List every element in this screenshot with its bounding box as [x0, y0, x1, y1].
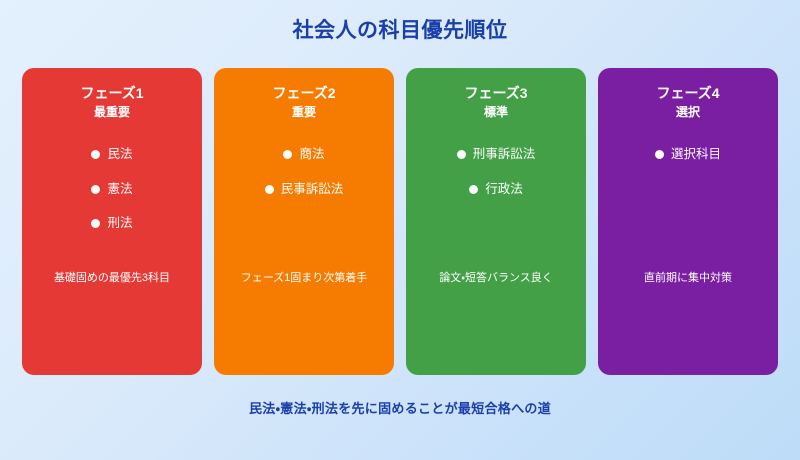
- bullet-icon: [91, 185, 100, 194]
- phase-card-2[interactable]: フェーズ2 重要 商法 民事訴訟法 フェーズ1固まり次第着手: [214, 68, 394, 375]
- list-item: 民法: [91, 146, 132, 164]
- infographic-page: 社会人の科目優先順位 フェーズ1 最重要 民法 憲法 刑法 基礎固めの最優先3科…: [0, 0, 800, 460]
- list-item: 選択科目: [655, 146, 721, 164]
- subject-label: 憲法: [107, 181, 132, 199]
- phase-rank-label: 最重要: [94, 105, 130, 121]
- phase-label: フェーズ1: [80, 85, 143, 103]
- subject-label: 刑事訴訟法: [473, 146, 536, 164]
- phase-label: フェーズ2: [272, 85, 335, 103]
- subject-list: 民法 憲法 刑法: [22, 146, 202, 250]
- phase-rank-label: 重要: [292, 105, 316, 121]
- subject-label: 民法: [107, 146, 132, 164]
- phase-label: フェーズ3: [464, 85, 527, 103]
- phase-rank-label: 標準: [484, 105, 508, 121]
- list-item: 刑事訴訟法: [457, 146, 536, 164]
- bullet-icon: [91, 150, 100, 159]
- list-item: 民事訴訟法: [265, 181, 344, 199]
- bullet-icon: [265, 185, 274, 194]
- subject-label: 行政法: [485, 181, 523, 199]
- bullet-icon: [91, 219, 100, 228]
- footer-note: 民法・憲法・刑法を先に固めることが最短合格への道: [0, 398, 800, 417]
- phase-card-1[interactable]: フェーズ1 最重要 民法 憲法 刑法 基礎固めの最優先3科目: [22, 68, 202, 375]
- card-note: 直前期に集中対策: [598, 271, 778, 286]
- bullet-icon: [469, 185, 478, 194]
- card-note: 基礎固めの最優先3科目: [22, 271, 202, 286]
- phase-rank-label: 選択: [676, 105, 700, 121]
- list-item: 憲法: [91, 181, 132, 199]
- subject-list: 選択科目: [598, 146, 778, 181]
- card-note: 論文・短答バランス良く: [406, 271, 586, 286]
- subject-list: 刑事訴訟法 行政法: [406, 146, 586, 215]
- subject-label: 刑法: [107, 215, 132, 233]
- bullet-icon: [457, 150, 466, 159]
- subject-label: 商法: [299, 146, 324, 164]
- phase-card-list: フェーズ1 最重要 民法 憲法 刑法 基礎固めの最優先3科目 フェーズ2: [22, 68, 778, 375]
- subject-list: 商法 民事訴訟法: [214, 146, 394, 215]
- card-note: フェーズ1固まり次第着手: [214, 271, 394, 286]
- subject-label: 民事訴訟法: [281, 181, 344, 199]
- phase-card-3[interactable]: フェーズ3 標準 刑事訴訟法 行政法 論文・短答バランス良く: [406, 68, 586, 375]
- list-item: 商法: [283, 146, 324, 164]
- bullet-icon: [655, 150, 664, 159]
- page-title: 社会人の科目優先順位: [0, 14, 800, 44]
- list-item: 行政法: [469, 181, 523, 199]
- bullet-icon: [283, 150, 292, 159]
- phase-label: フェーズ4: [656, 85, 719, 103]
- phase-card-4[interactable]: フェーズ4 選択 選択科目 直前期に集中対策: [598, 68, 778, 375]
- list-item: 刑法: [91, 215, 132, 233]
- subject-label: 選択科目: [671, 146, 721, 164]
